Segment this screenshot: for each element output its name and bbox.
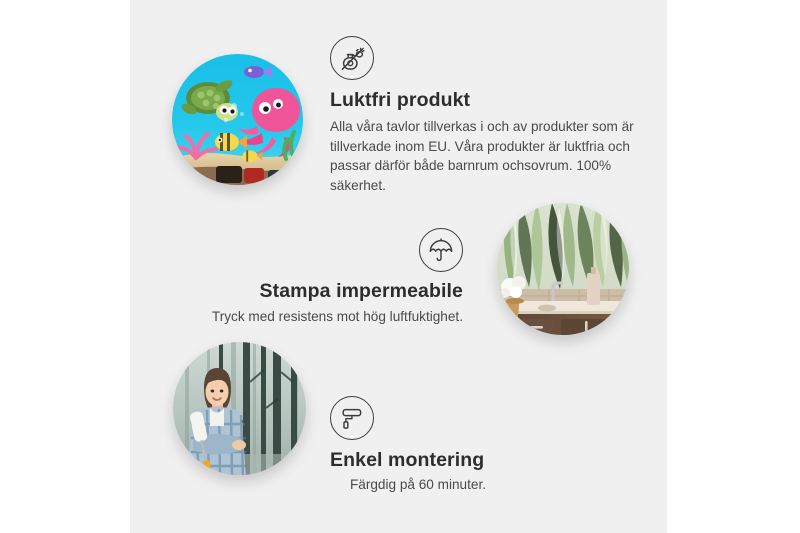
photo-bathroom-wallpaper — [497, 203, 629, 335]
feature-waterproof-print: Stampa impermeabile Tryck med resistens … — [185, 228, 463, 327]
paint-roller-icon — [330, 396, 374, 440]
photo-underwater-mural — [172, 54, 303, 185]
umbrella-icon — [419, 228, 463, 272]
feature-description: Alla våra tavlor tillverkas i och av pro… — [330, 117, 635, 195]
photo-decorator-forest — [173, 342, 306, 475]
feature-title: Enkel montering — [330, 449, 530, 472]
feature-description: Färgdig på 60 minuter. — [330, 475, 530, 495]
feature-title: Stampa impermeabile — [185, 280, 463, 303]
no-fragrance-icon — [330, 36, 374, 80]
feature-title: Luktfri produkt — [330, 89, 635, 112]
feature-easy-installation: Enkel montering Färgdig på 60 minuter. — [330, 396, 530, 495]
feature-description: Tryck med resistens mot hög luftfuktighe… — [185, 307, 463, 327]
feature-odour-free: Luktfri produkt Alla våra tavlor tillver… — [330, 36, 635, 195]
promo-banner: Luktfri produkt Alla våra tavlor tillver… — [0, 0, 800, 533]
